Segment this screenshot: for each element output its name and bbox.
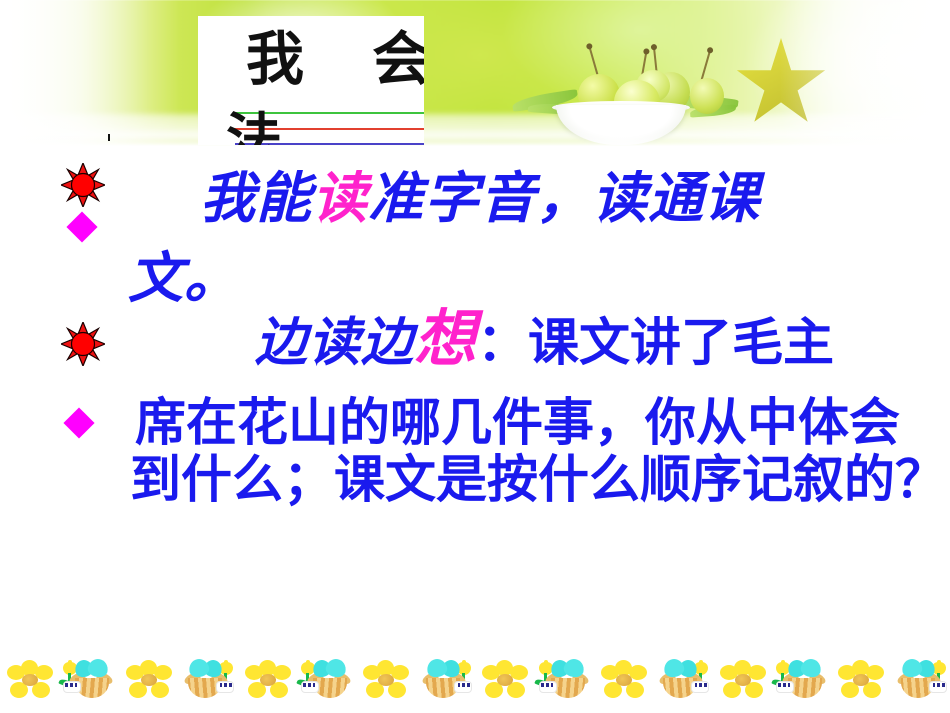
bee-graphic xyxy=(182,658,234,700)
bee-eyes xyxy=(220,683,232,687)
flower-center xyxy=(22,674,38,686)
line3-part-b: ：课文讲了毛主 xyxy=(477,313,834,373)
bee-graphic xyxy=(539,658,591,700)
card-tick-mark xyxy=(108,134,110,141)
line3-part-a: 边读边 xyxy=(255,312,414,373)
bee-icon xyxy=(653,646,712,708)
line1-part-a: 我能 xyxy=(200,165,312,230)
sun-icon xyxy=(61,322,105,366)
bee-eyes xyxy=(933,683,945,687)
line1-part-b: 准字音，读通课 xyxy=(368,165,760,230)
bee-graphic xyxy=(301,658,353,700)
flower-graphic xyxy=(363,660,409,700)
flower-icon xyxy=(713,646,772,708)
bee-eyes xyxy=(541,683,553,687)
title-card-surface: 我 会 法 xyxy=(198,16,424,145)
bee-eyes xyxy=(303,683,315,687)
title-card: 我 会 法 xyxy=(99,8,424,145)
diamond-icon xyxy=(66,211,97,242)
flower-petal xyxy=(391,665,409,680)
green-fruit xyxy=(690,78,724,114)
bee-icon xyxy=(297,646,356,708)
flower-center xyxy=(497,674,513,686)
bee-icon xyxy=(59,646,118,708)
body-line-4: 席在花山的哪几件事，你从中体会 xyxy=(135,398,900,449)
bee-graphic xyxy=(657,658,709,700)
body-line-2: 文。 xyxy=(128,250,240,305)
flower-icon xyxy=(594,646,653,708)
footer-decorative-border xyxy=(0,641,950,713)
flower-icon xyxy=(356,646,415,708)
sun-icon xyxy=(61,163,105,207)
flower-icon xyxy=(238,646,297,708)
banner-fade-right xyxy=(780,0,950,148)
bee-icon xyxy=(535,646,594,708)
diamond-icon xyxy=(63,407,94,438)
body-line-5: 到什么；课文是按什么顺序记叙的？ xyxy=(130,455,946,506)
bee-graphic xyxy=(776,658,828,700)
flower-petal xyxy=(866,665,884,680)
bee-icon xyxy=(178,646,237,708)
bee-eyes xyxy=(458,683,470,687)
flower-graphic xyxy=(482,660,528,700)
bee-graphic xyxy=(420,658,472,700)
flower-center xyxy=(735,674,751,686)
bee-graphic xyxy=(895,658,947,700)
bee-eyes xyxy=(695,683,707,687)
line1-highlight: 读 xyxy=(312,165,368,230)
flower-icon xyxy=(475,646,534,708)
flower-icon xyxy=(831,646,890,708)
flower-icon xyxy=(119,646,178,708)
flower-graphic xyxy=(720,660,766,700)
body-line-1: 我能读准字音，读通课 xyxy=(200,170,760,225)
flower-center xyxy=(141,674,157,686)
bee-graphic xyxy=(63,658,115,700)
flower-graphic xyxy=(601,660,647,700)
bee-eyes xyxy=(65,683,77,687)
flower-center xyxy=(260,674,276,686)
slide-canvas: 我 会 法 xyxy=(0,0,950,713)
body-line-3: 边读边想：课文讲了毛主 xyxy=(255,308,834,370)
card-title-text: 我 会 xyxy=(246,30,424,88)
flower-graphic xyxy=(838,660,884,700)
flower-graphic xyxy=(126,660,172,700)
bee-eyes xyxy=(778,683,790,687)
line3-highlight: 想 xyxy=(414,302,477,375)
flower-icon xyxy=(0,646,59,708)
flower-graphic xyxy=(7,660,53,700)
card-subtitle-text: 法 xyxy=(226,112,282,145)
flower-graphic xyxy=(245,660,291,700)
bee-icon xyxy=(416,646,475,708)
bee-icon xyxy=(772,646,831,708)
flower-center xyxy=(616,674,632,686)
bee-icon xyxy=(891,646,950,708)
